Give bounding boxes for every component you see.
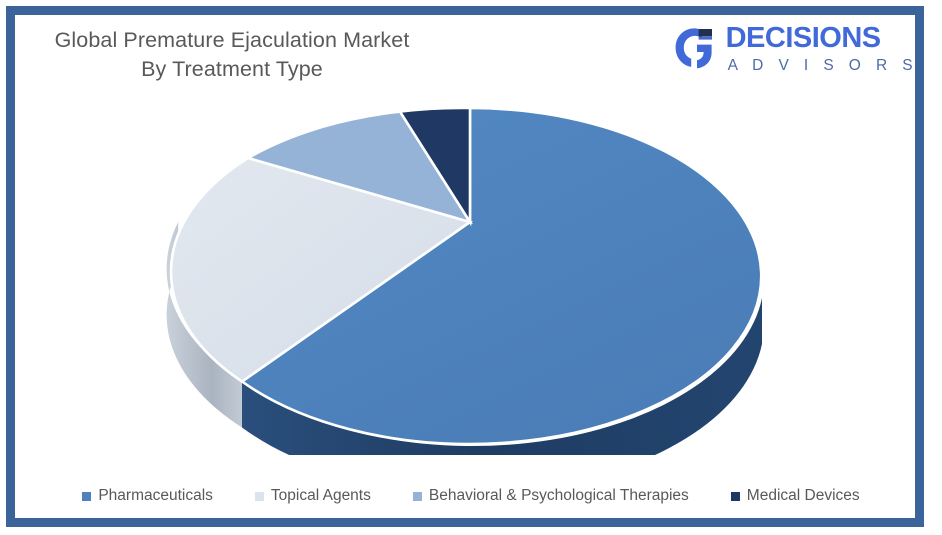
legend-swatch-icon [82, 492, 91, 501]
legend-item-behavioral-psychological-therapies[interactable]: Behavioral & Psychological Therapies [413, 487, 689, 505]
legend-label: Pharmaceuticals [98, 487, 213, 505]
legend-item-medical-devices[interactable]: Medical Devices [731, 487, 860, 505]
logo-wordmark: DECISIONS A D V I S O R S [726, 24, 918, 74]
legend-swatch-icon [413, 492, 422, 501]
logo-word-advisors: A D V I S O R S [728, 58, 918, 74]
legend-swatch-icon [731, 492, 740, 501]
chart-canvas: Global Premature Ejaculation Market By T… [0, 0, 942, 535]
company-logo: DECISIONS A D V I S O R S [673, 24, 918, 74]
logo-word-decisions: DECISIONS [726, 24, 918, 53]
legend-item-pharmaceuticals[interactable]: Pharmaceuticals [82, 487, 213, 505]
legend-label: Behavioral & Psychological Therapies [429, 487, 689, 505]
legend-label: Medical Devices [747, 487, 860, 505]
legend-item-topical-agents[interactable]: Topical Agents [255, 487, 371, 505]
chart-legend: Pharmaceuticals Topical Agents Behaviora… [0, 487, 942, 505]
chart-title: Global Premature Ejaculation Market By T… [22, 26, 442, 84]
legend-swatch-icon [255, 492, 264, 501]
decisions-g-mark-icon [673, 26, 717, 72]
pie-chart [150, 95, 800, 455]
legend-label: Topical Agents [271, 487, 371, 505]
